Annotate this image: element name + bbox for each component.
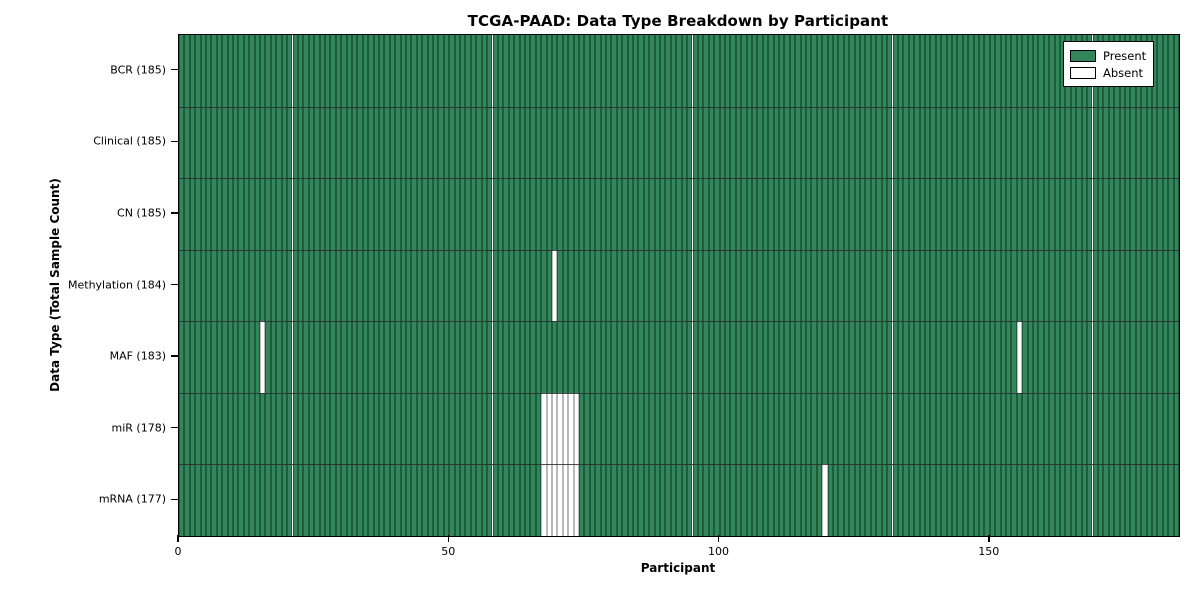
cell-present xyxy=(1174,393,1179,465)
chart-title: TCGA-PAAD: Data Type Breakdown by Partic… xyxy=(178,12,1178,30)
cell-present xyxy=(1174,464,1179,536)
y-tick-label: Clinical (185) xyxy=(93,135,166,148)
legend-label: Absent xyxy=(1103,66,1143,80)
y-tick-mark xyxy=(171,141,178,142)
y-tick-mark xyxy=(171,355,178,356)
chart-legend: PresentAbsent xyxy=(1063,41,1154,87)
cell-present xyxy=(1174,321,1179,393)
x-tick-label: 150 xyxy=(978,545,999,558)
x-tick-label: 50 xyxy=(441,545,455,558)
plot-area xyxy=(178,34,1180,537)
row-gridline xyxy=(179,321,1179,322)
row-gridline xyxy=(179,393,1179,394)
cell-present xyxy=(1174,35,1179,107)
y-tick-label: BCR (185) xyxy=(110,63,166,76)
x-tick-mark xyxy=(177,535,178,542)
chart-figure: TCGA-PAAD: Data Type Breakdown by Partic… xyxy=(0,0,1200,600)
x-tick-mark xyxy=(448,535,449,542)
y-tick-mark xyxy=(171,499,178,500)
x-tick-mark xyxy=(988,535,989,542)
cell-present xyxy=(1174,178,1179,250)
y-tick-mark xyxy=(171,284,178,285)
legend-swatch-icon xyxy=(1070,67,1096,79)
heatmap-row xyxy=(179,178,1179,250)
y-tick-mark xyxy=(171,427,178,428)
x-tick-mark xyxy=(718,535,719,542)
row-gridline xyxy=(179,178,1179,179)
row-gridline xyxy=(179,107,1179,108)
y-tick-mark xyxy=(171,212,178,213)
heatmap-row xyxy=(179,393,1179,465)
y-tick-mark xyxy=(171,69,178,70)
y-axis-title: Data Type (Total Sample Count) xyxy=(48,0,70,585)
y-tick-label: miR (178) xyxy=(112,421,167,434)
legend-item[interactable]: Absent xyxy=(1070,64,1146,81)
legend-swatch-icon xyxy=(1070,50,1096,62)
row-gridline xyxy=(179,250,1179,251)
x-axis-title: Participant xyxy=(178,561,1178,575)
cell-present xyxy=(1174,107,1179,179)
x-tick-label: 0 xyxy=(175,545,182,558)
heatmap-row xyxy=(179,35,1179,107)
legend-label: Present xyxy=(1103,49,1146,63)
y-tick-label: MAF (183) xyxy=(110,350,166,363)
cell-present xyxy=(1174,250,1179,322)
y-tick-label: mRNA (177) xyxy=(99,493,166,506)
x-tick-label: 100 xyxy=(708,545,729,558)
row-gridline xyxy=(179,464,1179,465)
heatmap-row xyxy=(179,107,1179,179)
heatmap-row xyxy=(179,250,1179,322)
heatmap-row xyxy=(179,464,1179,536)
y-tick-label: Methylation (184) xyxy=(68,278,166,291)
legend-item[interactable]: Present xyxy=(1070,47,1146,64)
y-tick-label: CN (185) xyxy=(117,206,166,219)
heatmap-row xyxy=(179,321,1179,393)
